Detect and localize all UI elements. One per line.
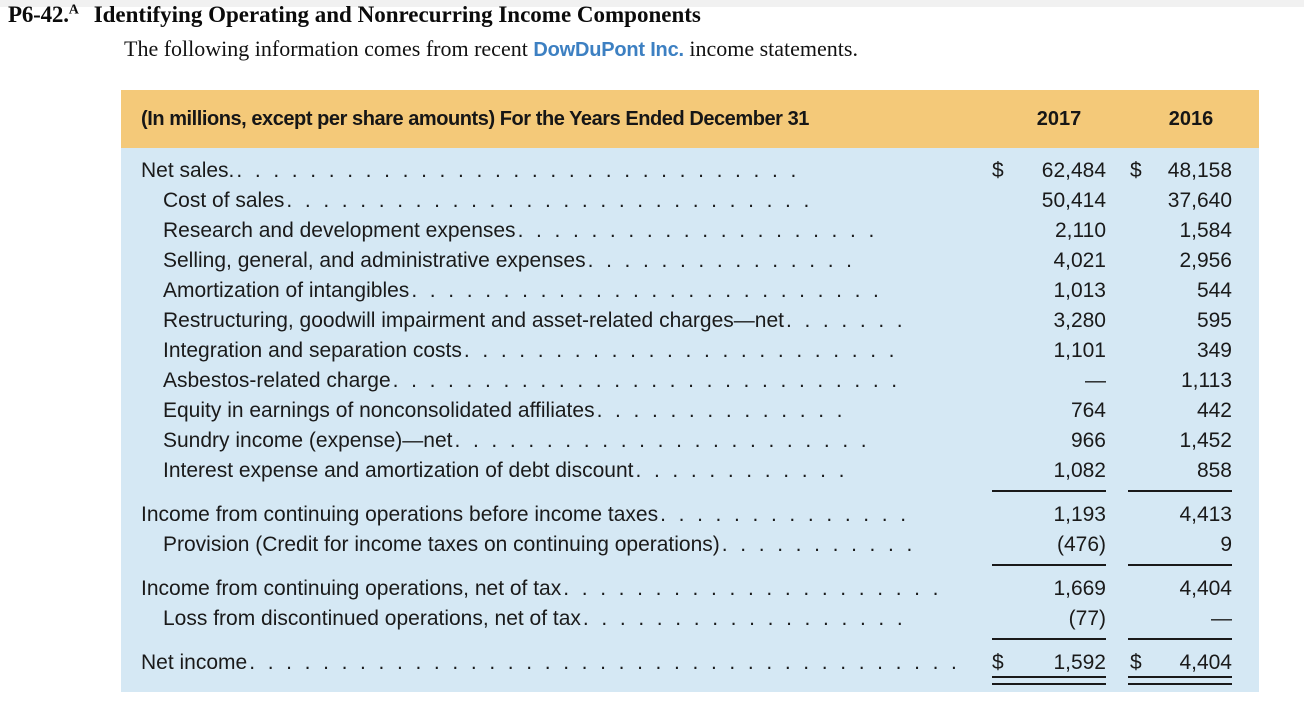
currency-symbol: $: [992, 156, 1004, 186]
row-label: Income from continuing operations, net o…: [141, 574, 984, 604]
cell-2016: 1,113: [1116, 366, 1259, 396]
leader-dots: . . . . . . .: [786, 306, 984, 336]
row-label-text: Net income: [141, 648, 247, 678]
cell-value: 9: [1220, 533, 1232, 556]
table-body: Net sales.. . . . . . . . . . . . . . . …: [121, 148, 1259, 678]
row-label: Sundry income (expense)—net . . . . . . …: [141, 426, 984, 456]
intro-text-after: income statements.: [689, 36, 858, 61]
cell-value: —: [1211, 607, 1232, 630]
currency-symbol: $: [1130, 648, 1142, 678]
table-row: Net income . . . . . . . . . . . . . . .…: [121, 648, 1259, 678]
leader-dots: . . . . . . . . . . . . . . . . . . . .: [518, 216, 984, 246]
problem-heading: P6-42.A Identifying Operating and Nonrec…: [8, 2, 1298, 28]
row-label: Amortization of intangibles . . . . . . …: [141, 276, 984, 306]
cell-value: 1,193: [1053, 503, 1106, 526]
row-label-text: Income from continuing operations before…: [141, 500, 658, 530]
cell-2016: 4,404: [1116, 574, 1259, 604]
cell-2017: 1,082: [984, 456, 1116, 486]
problem-number-superscript: A: [69, 2, 79, 17]
row-label-text: Loss from discontinued operations, net o…: [163, 604, 581, 634]
leader-dots: . . . . . . . . . . . . . . . . . . . . …: [393, 366, 984, 396]
currency-symbol: $: [1130, 156, 1142, 186]
cell-2016: —: [1116, 604, 1259, 634]
cell-2017: 1,013: [984, 276, 1116, 306]
row-label-text: Research and development expenses: [163, 216, 516, 246]
leader-dots: . . . . . . . . . . . . . . . . . . . . …: [411, 276, 984, 306]
cell-value: 442: [1197, 399, 1232, 422]
cell-2017: 50,414: [984, 186, 1116, 216]
cell-value: (476): [1057, 533, 1106, 556]
row-label: Equity in earnings of nonconsolidated af…: [141, 396, 984, 426]
cell-value: 4,413: [1179, 503, 1232, 526]
cell-value: 4,404: [1179, 577, 1232, 600]
cell-2016: 37,640: [1116, 186, 1259, 216]
cell-2016: 858: [1116, 456, 1259, 486]
leader-dots: . . . . . . . . . . . . . . .: [588, 246, 984, 276]
table-row: Equity in earnings of nonconsolidated af…: [121, 396, 1259, 426]
cell-value: 2,110: [1055, 219, 1106, 242]
row-label-text: Integration and separation costs: [163, 336, 462, 366]
cell-2016: 544: [1116, 276, 1259, 306]
table-header-row: (In millions, except per share amounts) …: [121, 90, 1259, 148]
cell-value: 1,101: [1053, 339, 1106, 362]
income-statement-table: (In millions, except per share amounts) …: [121, 90, 1259, 692]
cell-value: —: [1085, 369, 1106, 392]
cell-2016: 1,584: [1116, 216, 1259, 246]
leader-dots: . . . . . . . . . . . . . . . . . . . . …: [563, 574, 984, 604]
cell-2017: 2,110: [984, 216, 1116, 246]
table-row: Interest expense and amortization of deb…: [121, 456, 1259, 486]
row-label: Loss from discontinued operations, net o…: [141, 604, 984, 634]
problem-number-text: P6-42.: [8, 2, 69, 27]
cell-2016: 2,956: [1116, 246, 1259, 276]
row-label: Income from continuing operations before…: [141, 500, 984, 530]
row-label: Interest expense and amortization of deb…: [141, 456, 984, 486]
cell-2016: 4,413: [1116, 500, 1259, 530]
row-label: Selling, general, and administrative exp…: [141, 246, 984, 276]
row-label: Net income . . . . . . . . . . . . . . .…: [141, 648, 984, 678]
table-row: Integration and separation costs . . . .…: [121, 336, 1259, 366]
leader-dots: . . . . . . . . . . . . . . . . . . . . …: [286, 186, 984, 216]
cell-2017: 1,101: [984, 336, 1116, 366]
cell-2016: $4,404: [1116, 648, 1259, 678]
cell-value: 1,584: [1179, 219, 1232, 242]
intro-sentence: The following information comes from rec…: [124, 36, 858, 63]
cell-2017: 764: [984, 396, 1116, 426]
leader-dots: . . . . . . . . . . . . . . . . . . . . …: [236, 156, 984, 186]
cell-value: 1,113: [1181, 369, 1232, 392]
column-header-2016: 2016: [1123, 108, 1259, 131]
row-label-text: Interest expense and amortization of deb…: [163, 456, 633, 486]
intro-text-before: The following information comes from rec…: [124, 36, 528, 61]
cell-value: 349: [1197, 339, 1232, 362]
leader-dots: . . . . . . . . . . . . . . . . . . . . …: [464, 336, 984, 366]
row-label: Research and development expenses . . . …: [141, 216, 984, 246]
cell-2017: (476): [984, 530, 1116, 560]
row-label: Restructuring, goodwill impairment and a…: [141, 306, 984, 336]
row-label: Asbestos-related charge . . . . . . . . …: [141, 366, 984, 396]
cell-2017: 1,193: [984, 500, 1116, 530]
cell-2016: 349: [1116, 336, 1259, 366]
cell-value: 1,013: [1053, 279, 1106, 302]
leader-dots: . . . . . . . . . . . . . . . . . .: [583, 604, 984, 634]
cell-2016: 1,452: [1116, 426, 1259, 456]
leader-dots: . . . . . . . . . . . . . . . . . . . . …: [454, 426, 984, 456]
cell-value: 595: [1197, 309, 1232, 332]
cell-value: (77): [1069, 607, 1106, 630]
leader-dots: . . . . . . . . . . . .: [635, 456, 984, 486]
cell-value: 4,404: [1179, 651, 1232, 674]
cell-value: 1,452: [1179, 429, 1232, 452]
table-row: Sundry income (expense)—net . . . . . . …: [121, 426, 1259, 456]
table-row: Cost of sales . . . . . . . . . . . . . …: [121, 186, 1259, 216]
column-header-2017: 2017: [995, 108, 1123, 131]
cell-value: 764: [1071, 399, 1106, 422]
cell-2017: —: [984, 366, 1116, 396]
cell-2017: 1,669: [984, 574, 1116, 604]
row-label-text: Asbestos-related charge: [163, 366, 391, 396]
row-label-text: Sundry income (expense)—net: [163, 426, 452, 456]
table-row: Provision (Credit for income taxes on co…: [121, 530, 1259, 560]
cell-2017: 3,280: [984, 306, 1116, 336]
row-label-text: Amortization of intangibles: [163, 276, 409, 306]
table-row: Selling, general, and administrative exp…: [121, 246, 1259, 276]
table-row: Loss from discontinued operations, net o…: [121, 604, 1259, 634]
cell-2016: $48,158: [1116, 156, 1259, 186]
table-row: Income from continuing operations before…: [121, 500, 1259, 530]
cell-2017: 4,021: [984, 246, 1116, 276]
leader-dots: . . . . . . . . . . . . . .: [597, 396, 984, 426]
page-title: Identifying Operating and Nonrecurring I…: [94, 2, 701, 28]
row-label-text: Restructuring, goodwill impairment and a…: [163, 306, 784, 336]
cell-value: 544: [1197, 279, 1232, 302]
table-row: Restructuring, goodwill impairment and a…: [121, 306, 1259, 336]
row-label: Net sales.. . . . . . . . . . . . . . . …: [141, 156, 984, 186]
cell-value: 3,280: [1053, 309, 1106, 332]
cell-value: 62,484: [1042, 159, 1106, 182]
cell-2017: (77): [984, 604, 1116, 634]
row-label-text: Cost of sales: [163, 186, 284, 216]
table-caption: (In millions, except per share amounts) …: [141, 108, 995, 131]
company-link[interactable]: DowDuPont Inc.: [533, 39, 684, 61]
cell-value: 2,956: [1179, 249, 1232, 272]
row-label: Cost of sales . . . . . . . . . . . . . …: [141, 186, 984, 216]
cell-2016: 9: [1116, 530, 1259, 560]
leader-dots: . . . . . . . . . . .: [722, 530, 984, 560]
cell-value: 1,082: [1053, 459, 1106, 482]
cell-2017: 966: [984, 426, 1116, 456]
row-label: Integration and separation costs . . . .…: [141, 336, 984, 366]
cell-value: 4,021: [1053, 249, 1106, 272]
row-label-text: Income from continuing operations, net o…: [141, 574, 561, 604]
row-label-text: Net sales.: [141, 156, 234, 186]
currency-symbol: $: [992, 648, 1004, 678]
cell-2016: 595: [1116, 306, 1259, 336]
cell-value: 1,669: [1053, 577, 1106, 600]
cell-2017: $62,484: [984, 156, 1116, 186]
problem-number: P6-42.A: [8, 2, 79, 28]
row-label-text: Provision (Credit for income taxes on co…: [163, 530, 720, 560]
table-row: Amortization of intangibles . . . . . . …: [121, 276, 1259, 306]
cell-2016: 442: [1116, 396, 1259, 426]
cell-value: 37,640: [1168, 189, 1232, 212]
row-label-text: Selling, general, and administrative exp…: [163, 246, 586, 276]
table-row: Asbestos-related charge . . . . . . . . …: [121, 366, 1259, 396]
row-label-text: Equity in earnings of nonconsolidated af…: [163, 396, 595, 426]
table-row: Research and development expenses . . . …: [121, 216, 1259, 246]
leader-dots: . . . . . . . . . . . . . . . . . . . . …: [249, 648, 984, 678]
cell-value: 966: [1071, 429, 1106, 452]
row-label: Provision (Credit for income taxes on co…: [141, 530, 984, 560]
table-row: Net sales.. . . . . . . . . . . . . . . …: [121, 156, 1259, 186]
cell-value: 48,158: [1168, 159, 1232, 182]
cell-value: 1,592: [1053, 651, 1106, 674]
cell-value: 50,414: [1042, 189, 1106, 212]
table-row: Income from continuing operations, net o…: [121, 574, 1259, 604]
cell-2017: $1,592: [984, 648, 1116, 678]
cell-value: 858: [1197, 459, 1232, 482]
leader-dots: . . . . . . . . . . . . . .: [660, 500, 984, 530]
